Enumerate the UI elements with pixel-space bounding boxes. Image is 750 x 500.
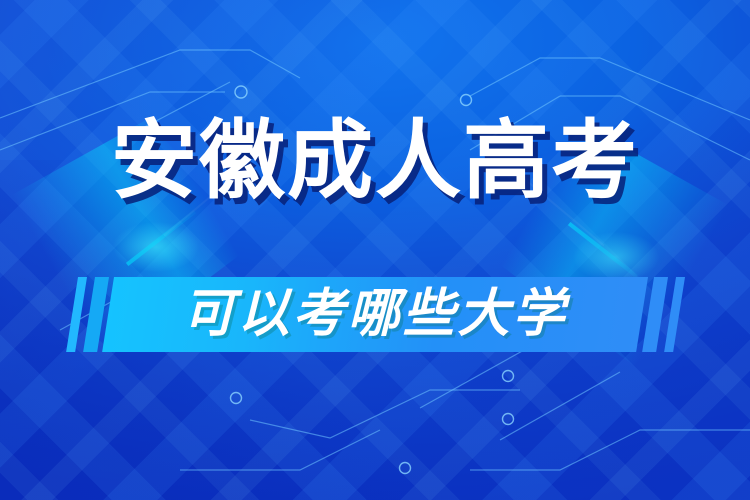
page-subtitle: 可以考哪些大学 [0,288,750,340]
page-title: 安徽成人高考 [0,118,750,204]
poster-canvas: 安徽成人高考 可以考哪些大学 [0,0,750,500]
